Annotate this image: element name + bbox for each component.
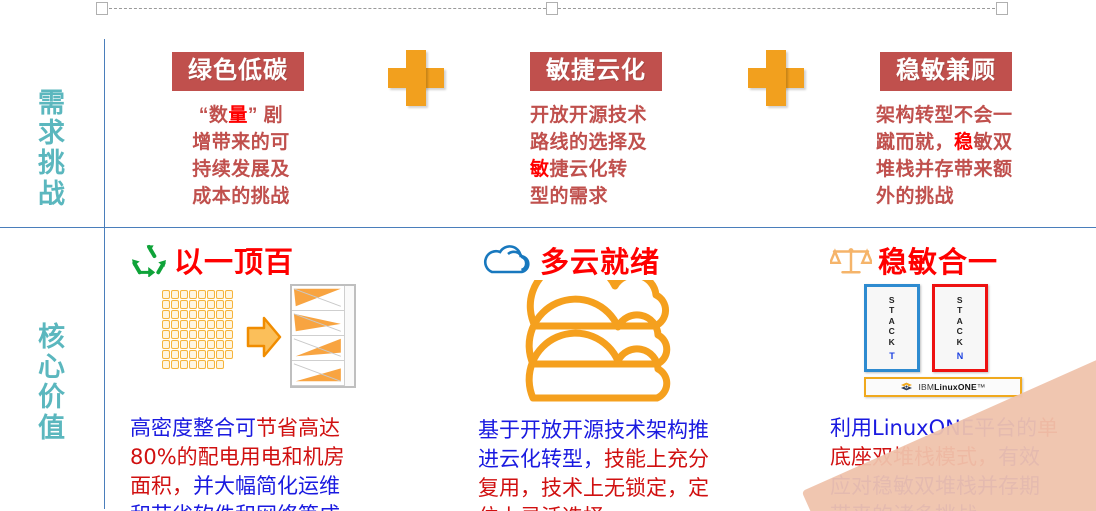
server-unit — [216, 340, 224, 349]
server-unit — [207, 360, 215, 369]
server-unit — [162, 300, 170, 309]
challenge-body: “数量” 剧增带来的可持续发展及成本的挑战 — [166, 103, 316, 211]
text-run: 路线的选择及 — [530, 132, 647, 153]
server-unit — [180, 310, 188, 319]
server-unit — [207, 290, 215, 299]
challenge-card-green-low-carbon: 绿色低碳 “数量” 剧增带来的可持续发展及成本的挑战 — [166, 52, 316, 211]
server-unit — [189, 300, 197, 309]
server-unit — [198, 300, 206, 309]
server-unit — [207, 340, 215, 349]
text-line: 80%的配电用电和机房 — [130, 443, 380, 472]
value-card-header: 稳敏合一 — [830, 240, 1080, 280]
value-card-multicloud-ready: 多云就绪 基于开放开源技术架构推进云化转型，技能上充分复用，技术上无锁定，定位上… — [478, 240, 738, 511]
server-unit — [180, 330, 188, 339]
value-card-title: 以一顶百 — [174, 239, 294, 281]
server-unit — [198, 320, 206, 329]
server-unit — [162, 360, 170, 369]
server-unit — [180, 340, 188, 349]
linuxone-tm: ™ — [977, 382, 986, 392]
stack-letter: C — [889, 326, 896, 336]
row-label-char: 值 — [0, 413, 104, 443]
stack-box-n: STACK N — [932, 284, 988, 372]
value-card-title: 稳敏合一 — [878, 239, 998, 281]
text-line: 架构转型不会一 — [876, 103, 1052, 130]
server-unit — [207, 300, 215, 309]
text-line: 堆栈并存带来额 — [876, 157, 1052, 184]
linuxone-brand: IBM — [918, 382, 934, 392]
server-unit — [171, 300, 179, 309]
stack-letter: C — [957, 326, 964, 336]
server-unit — [180, 320, 188, 329]
text-run: 外的挑战 — [876, 186, 954, 207]
linuxone-platform-bar: IBMLinuxONE™ — [864, 377, 1022, 397]
recycle-icon — [130, 243, 168, 277]
server-unit — [171, 360, 179, 369]
server-unit — [216, 290, 224, 299]
server-unit — [225, 290, 233, 299]
challenge-badge: 绿色低碳 — [172, 52, 304, 91]
text-run: 节省高达 — [256, 416, 340, 440]
server-unit — [171, 290, 179, 299]
text-line: 成本的挑战 — [166, 184, 316, 211]
server-unit — [225, 310, 233, 319]
text-line: “数量” 剧 — [166, 103, 316, 130]
row-label-char: 战 — [0, 179, 104, 209]
server-unit — [189, 330, 197, 339]
plus-icon — [748, 50, 804, 106]
server-unit — [162, 290, 170, 299]
server-unit — [162, 340, 170, 349]
stack-letter: T — [889, 305, 896, 315]
text-run: 量 — [228, 105, 248, 126]
row-label-char: 挑 — [0, 148, 104, 178]
server-unit — [180, 360, 188, 369]
server-unit — [216, 330, 224, 339]
server-unit — [180, 350, 188, 359]
server-unit — [189, 350, 197, 359]
text-run: 技能上充分 — [604, 447, 709, 471]
row-label-core-value: 核 心 价 值 — [0, 322, 104, 443]
value-card-description: 基于开放开源技术架构推进云化转型，技能上充分复用，技术上无锁定，定位上灵活选择 — [478, 416, 738, 511]
server-unit — [198, 360, 206, 369]
value-card-header: 以一顶百 — [130, 240, 380, 280]
text-line: 位上灵活选择 — [478, 503, 738, 511]
value-card-title: 多云就绪 — [540, 239, 660, 281]
text-run: 面积， — [130, 474, 193, 498]
text-line: 型的需求 — [530, 184, 680, 211]
text-run: 稳 — [954, 132, 974, 153]
server-unit — [171, 340, 179, 349]
row-label-char: 价 — [0, 382, 104, 412]
stack-letter: A — [889, 316, 896, 326]
text-run: 持续发展及 — [192, 159, 290, 180]
server-unit — [171, 330, 179, 339]
challenge-body: 开放开源技术路线的选择及敏捷云化转型的需求 — [530, 103, 680, 211]
server-unit — [189, 340, 197, 349]
row-label-char: 心 — [0, 352, 104, 382]
linuxone-logo-icon — [900, 382, 913, 393]
stack-letter: S — [889, 295, 896, 305]
stack-letter: K — [957, 337, 964, 347]
server-unit — [189, 360, 197, 369]
text-line: 外的挑战 — [876, 184, 1052, 211]
text-run: 基于开放开源技术架构推 — [478, 418, 709, 442]
challenge-body: 架构转型不会一蹴而就，稳敏双堆栈并存带来额外的挑战 — [876, 103, 1052, 211]
text-run: 敏 — [530, 159, 550, 180]
text-run: 开放开源技术 — [530, 105, 647, 126]
server-unit — [216, 310, 224, 319]
server-unit — [216, 350, 224, 359]
text-line: 开放开源技术 — [530, 103, 680, 130]
stack-letter: S — [957, 295, 964, 305]
slide-canvas: 需 求 挑 战 核 心 价 值 绿色低碳 “数量” 剧增带来的可持续发展及成本的… — [0, 0, 1096, 511]
stack-box-t: STACK T — [864, 284, 920, 372]
text-run: 高密度整合可 — [130, 416, 256, 440]
table-handle-ruler[interactable] — [96, 2, 1008, 16]
server-unit — [207, 330, 215, 339]
text-line: 进云化转型，技能上充分 — [478, 445, 738, 474]
server-unit — [216, 300, 224, 309]
server-unit — [207, 350, 215, 359]
text-run: 和节省软件和网络等成 — [130, 503, 340, 511]
row-label-challenges: 需 求 挑 战 — [0, 88, 104, 209]
text-run: ” 剧 — [248, 105, 283, 126]
value-card-header: 多云就绪 — [478, 240, 738, 280]
text-run: 成本的挑战 — [192, 186, 290, 207]
server-unit — [171, 350, 179, 359]
server-unit — [225, 300, 233, 309]
transform-arrow-icon — [246, 316, 282, 358]
row-label-char: 需 — [0, 88, 104, 118]
server-unit — [189, 320, 197, 329]
stack-box-tag: N — [957, 351, 964, 361]
text-line: 基于开放开源技术架构推 — [478, 416, 738, 445]
server-density-diagram — [130, 284, 380, 404]
text-run: 型的需求 — [530, 186, 608, 207]
stack-box-word: STACK — [957, 295, 964, 347]
server-unit — [198, 340, 206, 349]
stack-letter: T — [957, 305, 964, 315]
server-unit — [198, 330, 206, 339]
server-unit — [216, 360, 224, 369]
challenge-badge: 敏捷云化 — [530, 52, 662, 91]
challenge-badge: 稳敏兼顾 — [880, 52, 1012, 91]
table-handle-center[interactable] — [546, 2, 558, 15]
text-run: 蹴而就， — [876, 132, 954, 153]
server-grid — [162, 290, 234, 370]
stack-letter: K — [889, 337, 896, 347]
server-unit — [225, 320, 233, 329]
text-line: 路线的选择及 — [530, 130, 680, 157]
server-unit — [225, 350, 233, 359]
text-line: 持续发展及 — [166, 157, 316, 184]
server-unit — [225, 340, 233, 349]
text-run: 80%的配电用电和机房 — [130, 445, 345, 469]
row-label-char: 求 — [0, 118, 104, 148]
server-unit — [198, 290, 206, 299]
challenge-card-stable-agile: 稳敏兼顾 架构转型不会一蹴而就，稳敏双堆栈并存带来额外的挑战 — [876, 52, 1052, 211]
text-run: 敏双 — [974, 132, 1013, 153]
cloud-stack-diagram — [478, 284, 738, 404]
server-unit — [198, 350, 206, 359]
value-card-one-for-hundred: 以一顶百 高密度整合可节省高达80%的配电用电和机房面积，并大幅简化运维和节省软… — [130, 240, 380, 511]
text-run: 捷云化转 — [550, 159, 628, 180]
text-run: “数 — [199, 105, 229, 126]
row-label-char: 核 — [0, 322, 104, 352]
server-unit — [162, 350, 170, 359]
text-line: 高密度整合可节省高达 — [130, 414, 380, 443]
stack-letter: A — [957, 316, 964, 326]
challenge-card-agile-cloud: 敏捷云化 开放开源技术路线的选择及敏捷云化转型的需求 — [530, 52, 680, 211]
cloud-icon — [478, 244, 534, 276]
server-unit — [171, 320, 179, 329]
server-unit — [162, 310, 170, 319]
plus-icon — [388, 50, 444, 106]
server-unit — [189, 290, 197, 299]
vertical-divider — [104, 39, 105, 509]
text-run: 堆栈并存带来额 — [876, 159, 1013, 180]
text-line: 蹴而就，稳敏双 — [876, 130, 1052, 157]
server-unit — [180, 290, 188, 299]
stack-box-word: STACK — [889, 295, 896, 347]
text-run: 位上灵活选择 — [478, 505, 604, 511]
text-run: 进云化转型， — [478, 447, 604, 471]
text-run: 并大幅简化运维 — [193, 474, 340, 498]
text-line: 敏捷云化转 — [530, 157, 680, 184]
text-line: 面积，并大幅简化运维 — [130, 472, 380, 501]
value-card-description: 高密度整合可节省高达80%的配电用电和机房面积，并大幅简化运维和节省软件和网络等… — [130, 414, 380, 511]
server-unit — [198, 310, 206, 319]
table-handle-left[interactable] — [96, 2, 108, 15]
server-rack — [290, 284, 356, 388]
horizontal-divider — [0, 227, 1096, 228]
text-run: 复用，技术上无锁定，定 — [478, 476, 709, 500]
server-unit — [171, 310, 179, 319]
text-line: 和节省软件和网络等成 — [130, 501, 380, 511]
text-line: 复用，技术上无锁定，定 — [478, 474, 738, 503]
stack-box-tag: T — [889, 351, 895, 361]
linuxone-product: LinuxONE — [934, 382, 977, 392]
server-unit — [207, 310, 215, 319]
server-unit — [216, 320, 224, 329]
server-unit — [180, 300, 188, 309]
text-line: 增带来的可 — [166, 130, 316, 157]
server-unit — [189, 310, 197, 319]
server-unit — [225, 330, 233, 339]
table-handle-right[interactable] — [996, 2, 1008, 15]
server-unit — [162, 320, 170, 329]
text-run: 增带来的可 — [192, 132, 290, 153]
linuxone-logo-text: IBMLinuxONE™ — [918, 382, 985, 392]
balance-scale-icon — [830, 243, 872, 277]
server-unit — [207, 320, 215, 329]
text-run: 架构转型不会一 — [876, 105, 1013, 126]
server-unit — [162, 330, 170, 339]
